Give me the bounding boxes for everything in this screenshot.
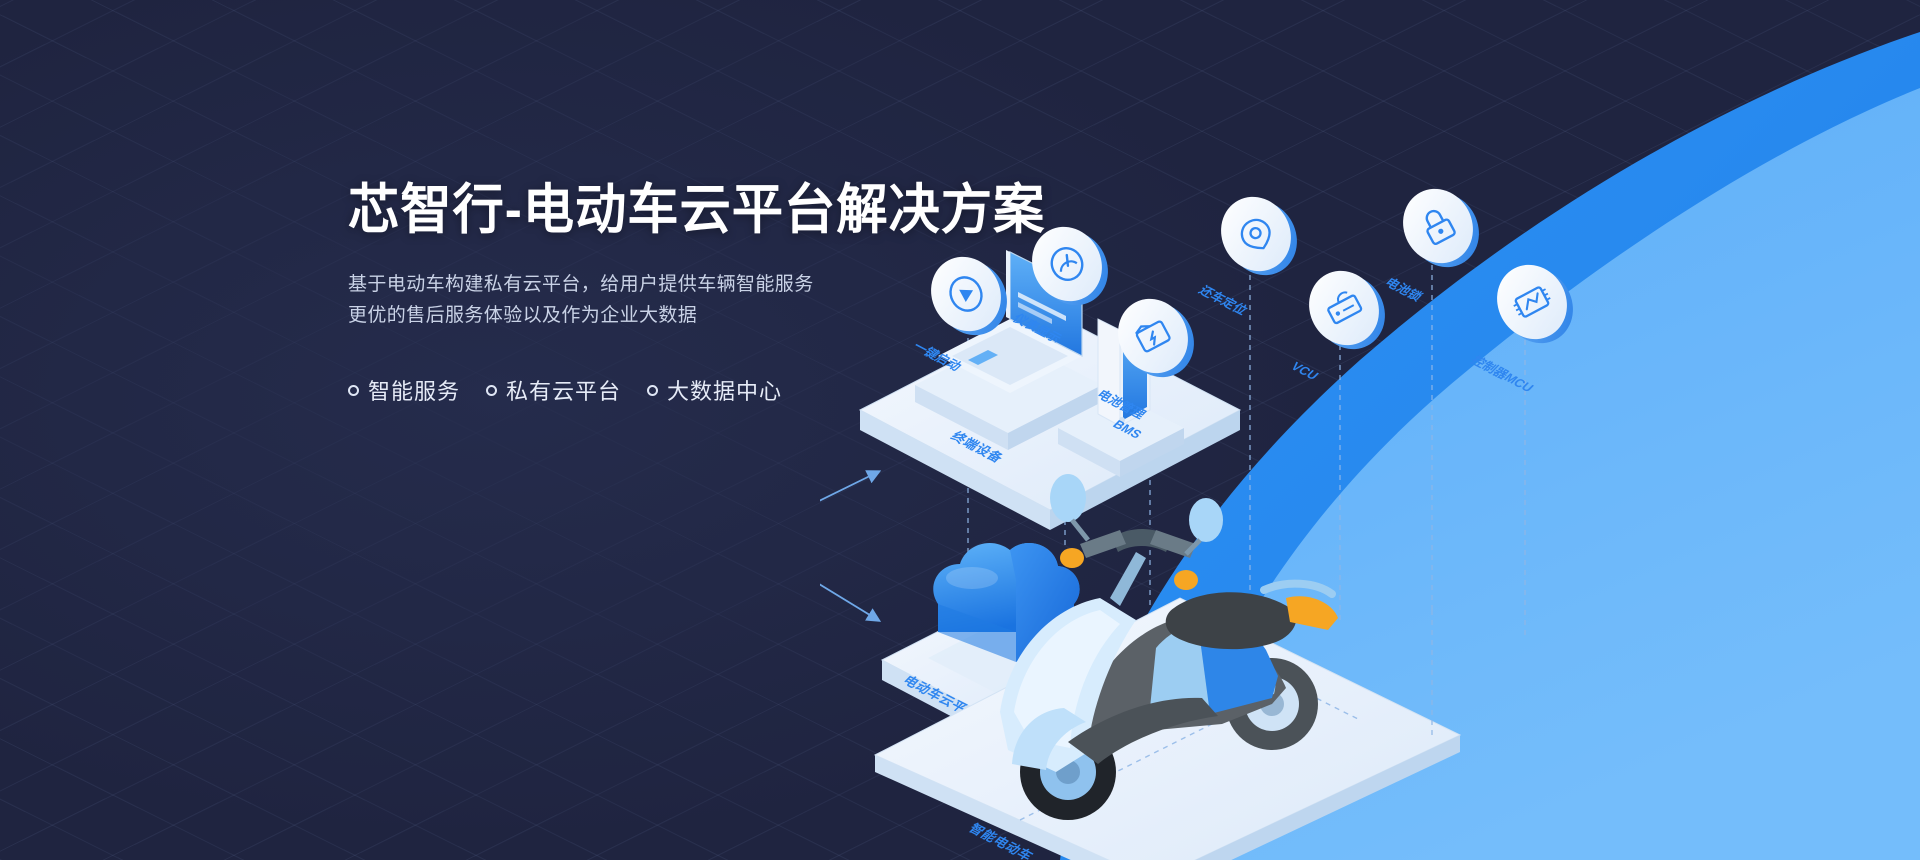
badge-battery-lock[interactable]: 电池锁 [1382,180,1492,304]
bullet-item-smart-service: 智能服务 [348,374,460,406]
badge-label: VCU [1288,359,1322,382]
badge-controller-mcu[interactable]: 控制器MCU [1468,252,1586,394]
circle-bullet-icon [348,385,359,396]
badge-label: 电池锁 [1382,275,1426,303]
circle-bullet-icon [486,385,497,396]
bullet-label: 大数据中心 [667,374,782,406]
arrow-to-terminal [820,472,878,530]
bullet-label: 私有云平台 [506,374,621,406]
bullet-label: 智能服务 [368,374,460,406]
badge-label: 还车定位 [1195,283,1251,318]
isometric-diagram: 终端设备 电动车云平台 [820,180,1920,860]
bullet-item-private-cloud: 私有云平台 [486,374,621,406]
badge-vcu[interactable]: VCU [1288,258,1398,382]
badge-label: 控制器MCU [1468,353,1537,394]
bullet-item-big-data: 大数据中心 [647,374,782,406]
hero-banner: 芯智行-电动车云平台解决方案 基于电动车构建私有云平台，给用户提供车辆智能服务 … [0,0,1920,860]
badge-return-locate[interactable]: 还车定位 [1195,184,1310,317]
arrow-to-cloud [820,548,878,620]
circle-bullet-icon [647,385,658,396]
